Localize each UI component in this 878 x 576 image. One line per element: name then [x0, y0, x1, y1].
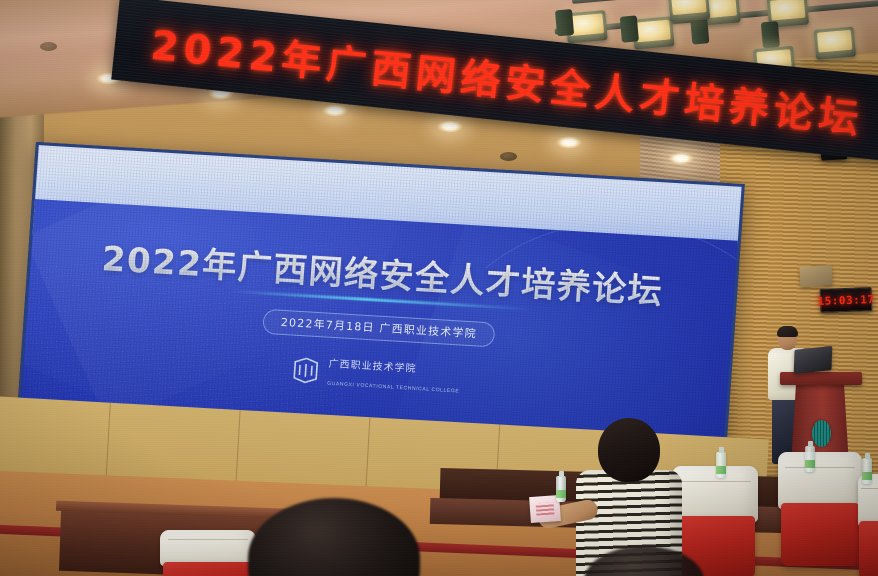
presenter-hair: [777, 326, 798, 337]
college-logo-text: 广西职业技术学院 GUANGXI VOCATIONAL TECHNICAL CO…: [327, 353, 462, 398]
stage-light-body-4: [761, 21, 780, 48]
stage-light-body-3: [690, 17, 709, 44]
downlight-3: [322, 104, 348, 117]
water-bottle-4: [556, 476, 566, 502]
water-bottle-1: [716, 452, 726, 478]
stage-light-2: [632, 16, 674, 49]
slide-subtitle: 2022年7月18日 广西职业技术学院: [262, 308, 496, 347]
chair-covered-2: [778, 452, 862, 562]
college-name-en: GUANGXI VOCATIONAL TECHNICAL COLLEGE: [327, 381, 459, 395]
stage-light-body-1: [555, 9, 574, 36]
water-bottle-3: [862, 458, 872, 484]
podium-top: [780, 372, 862, 385]
stage-light-7: [668, 0, 710, 22]
stage-light-5: [814, 26, 856, 59]
photo-scene: 2022年广西网络安全人才培养论坛 15:03:17 2022年广西网络安全人才…: [0, 0, 878, 576]
digital-clock-time: 15:03:17: [817, 293, 874, 308]
chair-back-4: [163, 562, 253, 576]
downlight-6: [668, 152, 694, 165]
downlight-4: [437, 120, 463, 133]
water-bottle-2: [805, 446, 815, 472]
smoke-detector-icon-3: [40, 42, 57, 51]
stage-light-body-2: [620, 15, 639, 42]
smoke-detector-icon: [500, 152, 517, 161]
chair-covered-4: [160, 530, 256, 576]
podium-emblem-icon: [812, 420, 831, 447]
attendee-striped-head: [598, 418, 660, 482]
chair-cover-4: [160, 530, 256, 566]
college-logo-icon: [290, 354, 322, 386]
chair-cover-2: [778, 452, 862, 509]
slide-content: 2022年广西网络安全人才培养论坛 2022年7月18日 广西职业技术学院: [23, 227, 736, 414]
chair-covered-3: [858, 474, 878, 576]
podium-laptop: [794, 346, 833, 374]
chair-back-3: [859, 521, 878, 576]
chair-back-2: [781, 503, 860, 567]
clock-bracket: [799, 265, 832, 287]
digital-clock: 15:03:17: [820, 287, 873, 313]
college-name-cn: 广西职业技术学院: [328, 358, 417, 374]
